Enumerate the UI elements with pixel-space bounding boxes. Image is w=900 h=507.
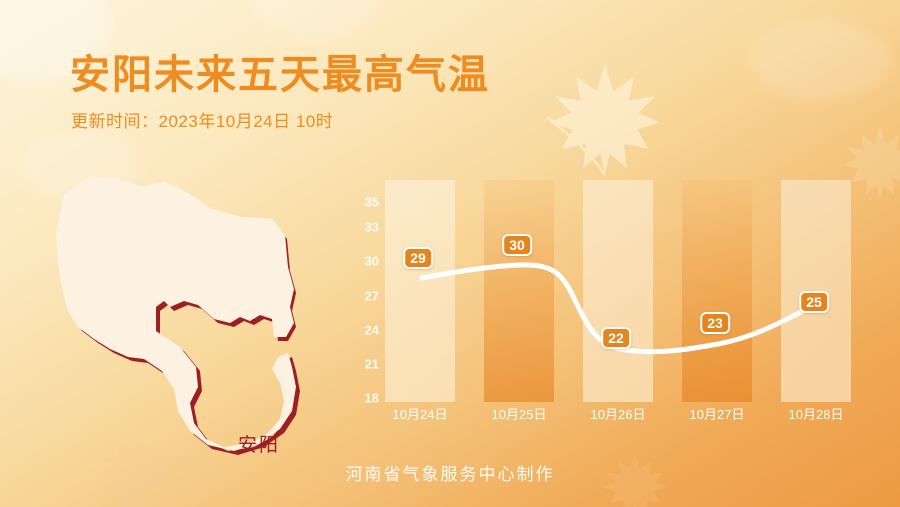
cloud-decoration	[250, 0, 380, 40]
footer-credit: 河南省气象服务中心制作	[0, 460, 900, 485]
map-body-shape	[56, 177, 296, 451]
update-time-text: 更新时间：2023年10月24日 10时	[71, 107, 333, 132]
x-axis-tick: 10月28日	[789, 404, 844, 423]
y-axis-tick: 27	[365, 289, 379, 304]
data-point-label: 30	[502, 234, 532, 256]
y-axis-tick: 33	[365, 220, 379, 235]
temperature-line	[385, 180, 853, 402]
weather-forecast-poster: 安阳未来五天最高气温 更新时间：2023年10月24日 10时 安阳 35 33…	[0, 0, 900, 507]
x-axis-tick: 10月27日	[690, 404, 745, 423]
data-point-label: 23	[700, 312, 730, 334]
x-axis-tick: 10月25日	[492, 404, 547, 423]
y-axis-tick: 35	[365, 195, 379, 210]
data-point-label: 29	[403, 247, 433, 269]
data-point-label: 22	[601, 327, 631, 349]
y-axis-tick: 18	[365, 391, 379, 406]
x-axis: 10月24日 10月25日 10月26日 10月27日 10月28日	[385, 404, 853, 426]
y-axis-tick: 21	[365, 357, 379, 372]
x-axis-tick: 10月24日	[393, 404, 448, 423]
y-axis-tick: 24	[365, 323, 379, 338]
y-axis-tick: 30	[365, 254, 379, 269]
map-region-label: 安阳	[238, 430, 280, 457]
data-point-label: 25	[799, 291, 829, 313]
page-title: 安阳未来五天最高气温	[70, 42, 490, 100]
anyang-map: 安阳	[48, 175, 338, 455]
maple-leaf-decoration	[545, 55, 665, 185]
x-axis-tick: 10月26日	[591, 404, 646, 423]
temperature-chart: 35 33 30 27 24 21 18 29 30 22 23 25 10月2…	[340, 178, 860, 428]
cloud-decoration	[750, 20, 890, 100]
